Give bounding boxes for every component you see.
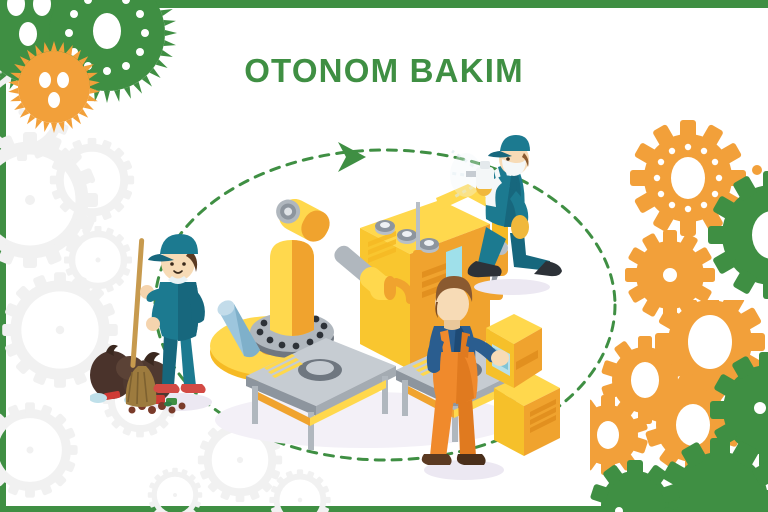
infographic-canvas: OTONOM BAKIM [0,0,768,512]
page-title: OTONOM BAKIM [0,52,768,90]
figure-cleaner [90,220,235,420]
green-top-border [0,0,768,8]
green-gear-br [710,352,768,468]
main-illustration [90,120,680,490]
green-bottom-border [0,506,768,512]
arrow-right-icon [338,142,366,172]
figure-operator [410,270,560,485]
control-panel [486,314,560,456]
orange-dot [752,165,762,175]
green-gear-right [708,171,768,299]
